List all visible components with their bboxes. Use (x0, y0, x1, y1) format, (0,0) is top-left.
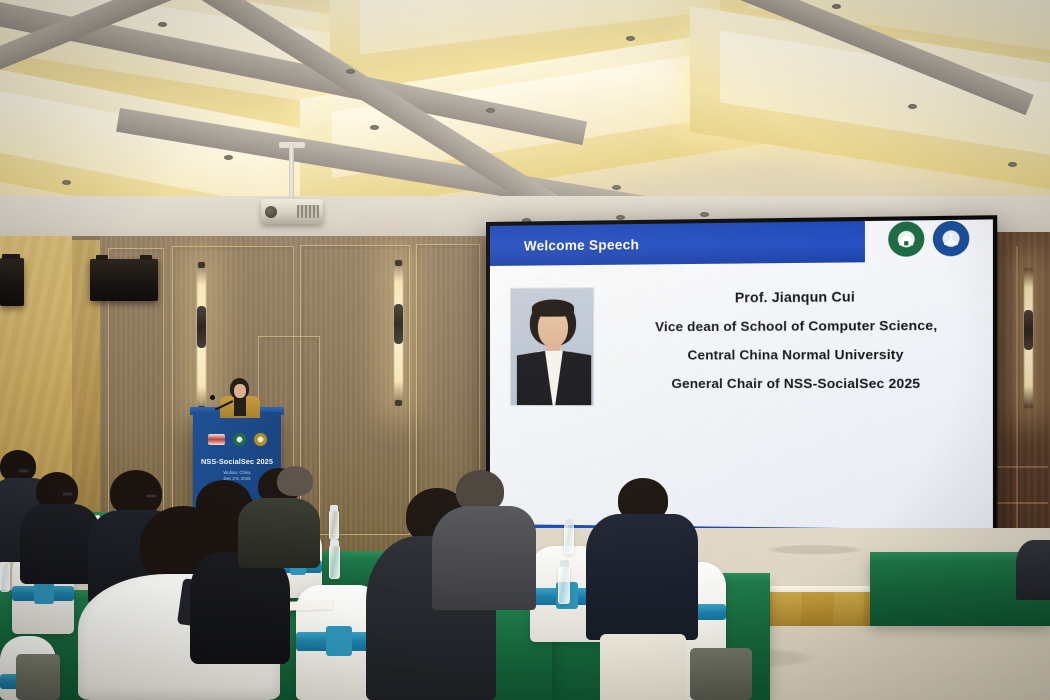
water-bottle (329, 545, 340, 579)
eyeglasses (18, 469, 29, 473)
water-bottle (564, 524, 574, 554)
bottle-cap (330, 540, 339, 546)
wood-panel-line (1016, 246, 1018, 550)
speaker-headshot-photo (510, 287, 594, 406)
audience-member-body (190, 552, 290, 664)
conference-photo: Welcome Speech (0, 0, 1050, 700)
slide-line-affiliation: Central China Normal University (687, 347, 903, 363)
water-bottle (558, 566, 570, 604)
wall-speaker-center-left (90, 259, 158, 301)
audience-member-head (277, 466, 313, 496)
sconce-cap (395, 400, 402, 406)
sconce-cap (198, 262, 205, 268)
backpack-on-floor (690, 648, 752, 700)
university-emblem-green-icon (888, 221, 924, 257)
ceiling-downlight (486, 108, 495, 113)
audience-member-body (238, 498, 320, 568)
podium-logo-row (201, 432, 273, 447)
ceiling-downlight (224, 155, 233, 160)
ceiling-downlight (612, 185, 621, 190)
eyeglasses (146, 494, 157, 498)
university-emblem-blue-icon (933, 221, 969, 257)
audience-member-body (432, 506, 536, 610)
ceiling-downlight (700, 212, 709, 217)
ceiling-downlight (908, 104, 917, 109)
projector-vent (297, 205, 319, 218)
ceiling-downlight (626, 36, 635, 41)
slide-logo-strip (865, 219, 993, 262)
ceiling-downlight (832, 4, 841, 9)
speaker-bracket (2, 254, 20, 259)
projector-lens (265, 206, 277, 218)
bottle-cap (330, 505, 338, 511)
bottle-cap (560, 560, 569, 567)
sconce-fixture (394, 304, 403, 344)
presentation-slide: Welcome Speech (490, 219, 993, 552)
water-bottle (329, 510, 339, 540)
presenter-inner-shirt (234, 397, 246, 416)
sponsor-logo-red-icon (208, 434, 225, 445)
podium-event-title: NSS-SocialSec 2025 (193, 457, 281, 466)
sconce-cap (395, 260, 402, 266)
sponsor-logo-green-icon (233, 433, 246, 446)
audience-member-body (1016, 540, 1050, 600)
backpack-on-floor (16, 654, 60, 700)
speaker-bracket (140, 255, 152, 260)
chair-sash-knot (326, 626, 352, 656)
podium-microphone-head (210, 395, 215, 400)
slide-line-role: Vice dean of School of Computer Science, (655, 318, 937, 335)
bottle-cap (565, 519, 573, 525)
slide-line-chair: General Chair of NSS-SocialSec 2025 (671, 376, 920, 392)
ceiling-downlight (1008, 162, 1017, 167)
water-bottle (0, 562, 10, 592)
slide-line-name: Prof. Jianqun Cui (735, 289, 855, 305)
document-on-table (285, 600, 333, 611)
speaker-bracket (96, 255, 108, 260)
led-presentation-screen: Welcome Speech (486, 215, 997, 557)
emblem-building-glyph (898, 233, 914, 246)
eyeglasses (62, 492, 73, 496)
wall-speaker-left (0, 258, 24, 306)
presenter-face (234, 384, 246, 398)
emblem-book-glyph (943, 232, 959, 245)
ceiling-downlight (370, 125, 379, 130)
slide-body: Prof. Jianqun Cui Vice dean of School of… (490, 261, 993, 530)
audience-member-navy-blazer (586, 514, 698, 640)
slide-header-band: Welcome Speech (490, 219, 993, 266)
headshot-fringe (532, 299, 574, 316)
projector-mount-rod (289, 145, 294, 201)
slide-text-block: Prof. Jianqun Cui Vice dean of School of… (594, 284, 978, 391)
sconce-fixture (1024, 310, 1033, 350)
ceiling-downlight (158, 22, 167, 27)
sconce-fixture (197, 306, 206, 348)
ceiling-downlight (346, 69, 355, 74)
ceiling-downlight (62, 180, 71, 185)
audience-member-trousers (600, 634, 686, 700)
slide-header-title: Welcome Speech (524, 237, 639, 253)
sponsor-logo-gold-icon (254, 433, 267, 446)
